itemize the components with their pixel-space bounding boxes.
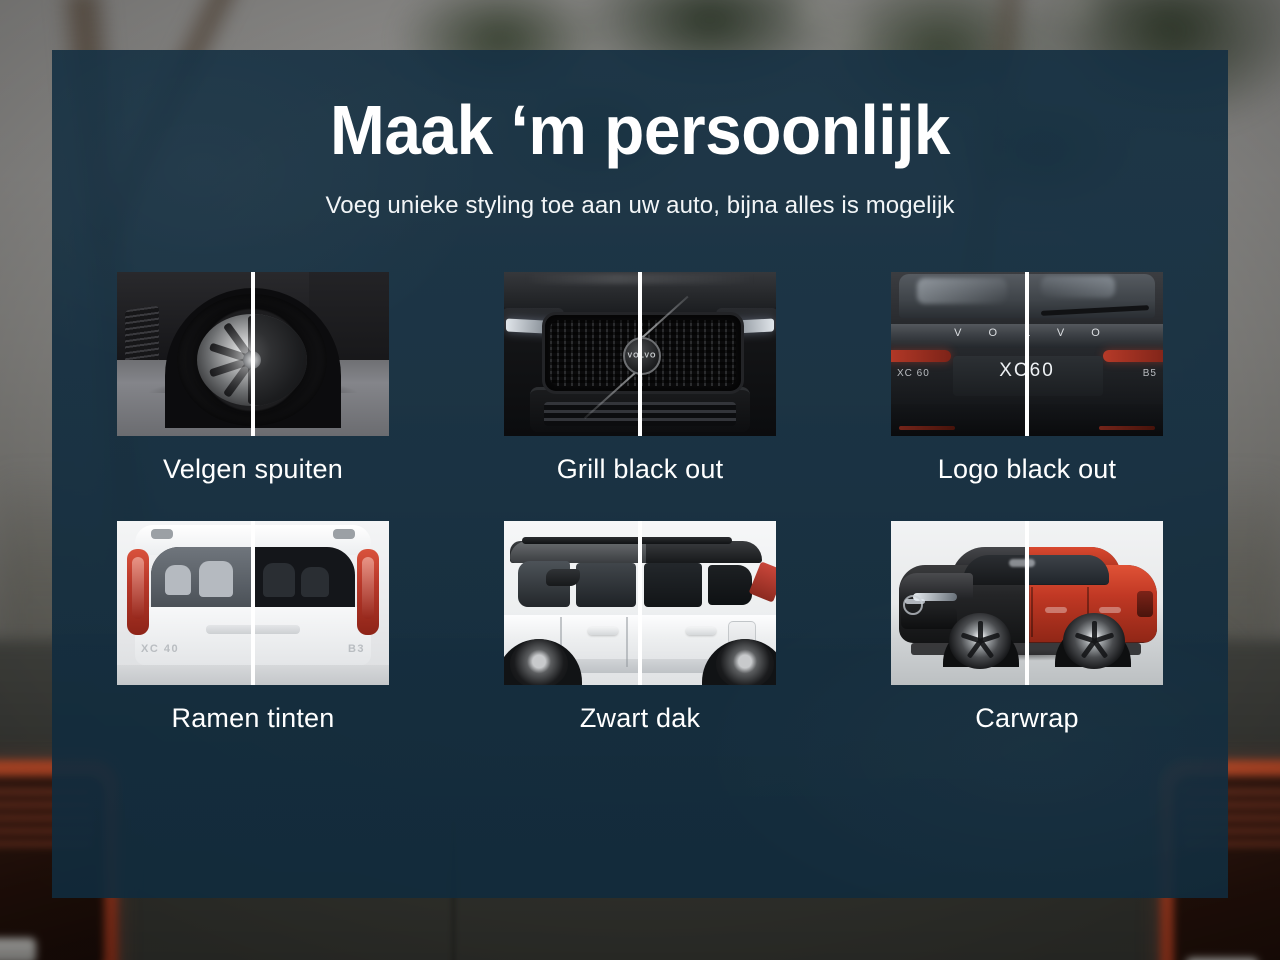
card-velgen-spuiten[interactable]: Velgen spuiten	[117, 272, 389, 485]
card-label-zwart-dak: Zwart dak	[504, 703, 776, 734]
thumbnail-velgen-spuiten[interactable]	[117, 272, 389, 436]
badge-left-text: XC 40	[141, 643, 179, 655]
badge-right-text: B5	[1143, 368, 1157, 379]
volvo-iron-mark-icon: VOLVO	[623, 337, 661, 375]
thumbnail-logo-black-out[interactable]: V O L V O XC60 XC 60 B5	[891, 272, 1163, 436]
card-label-velgen-spuiten: Velgen spuiten	[117, 454, 389, 485]
taillight-left-icon	[127, 549, 149, 635]
door-handle-icon	[1045, 607, 1067, 613]
before-after-divider	[251, 521, 255, 685]
taillight-icon	[1137, 591, 1153, 617]
card-label-logo-black-out: Logo black out	[891, 454, 1163, 485]
before-after-divider	[251, 272, 255, 436]
card-label-grill-black-out: Grill black out	[504, 454, 776, 485]
styling-options-grid: Velgen spuiten	[117, 220, 1163, 734]
thumbnail-ramen-tinten[interactable]: XC 40 B3	[117, 521, 389, 685]
wheel-icon	[949, 613, 1011, 669]
volvo-badge-text: VOLVO	[628, 352, 657, 359]
before-after-divider	[1025, 521, 1029, 685]
panel-header: Maak ‘m persoonlijk Voeg unieke styling …	[52, 50, 1228, 220]
screenshot-stage: Maak ‘m persoonlijk Voeg unieke styling …	[0, 0, 1280, 960]
before-after-divider	[1025, 272, 1029, 436]
before-after-divider	[638, 272, 642, 436]
before-after-divider	[638, 521, 642, 685]
badge-left-text: XC 60	[897, 368, 930, 379]
roof-rail-icon	[522, 537, 732, 544]
wheel-icon	[716, 639, 774, 685]
page-title: Maak ‘m persoonlijk	[87, 50, 1192, 168]
badge-right-text: B3	[348, 643, 365, 655]
taillight-right-icon	[357, 549, 379, 635]
card-ramen-tinten[interactable]: XC 40 B3 Ramen tinten	[117, 521, 389, 734]
content-panel: Maak ‘m persoonlijk Voeg unieke styling …	[52, 50, 1228, 898]
door-handle-icon	[1099, 607, 1121, 613]
fender-vent-icon	[125, 305, 159, 368]
card-grill-black-out[interactable]: VOLVO Grill black out	[504, 272, 776, 485]
door-handle-icon	[686, 627, 716, 635]
wheel-icon	[1063, 613, 1125, 669]
card-label-ramen-tinten: Ramen tinten	[117, 703, 389, 734]
wheel-icon	[510, 639, 568, 685]
side-mirror-icon	[546, 569, 580, 586]
card-label-carwrap: Carwrap	[891, 703, 1163, 734]
card-carwrap[interactable]: Carwrap	[891, 521, 1163, 734]
page-subtitle: Voeg unieke styling toe aan uw auto, bij…	[52, 168, 1228, 220]
card-zwart-dak[interactable]: Zwart dak	[504, 521, 776, 734]
volvo-iron-mark-icon	[903, 595, 923, 615]
thumbnail-grill-black-out[interactable]: VOLVO	[504, 272, 776, 436]
thumbnail-zwart-dak[interactable]	[504, 521, 776, 685]
thumbnail-carwrap[interactable]	[891, 521, 1163, 685]
card-logo-black-out[interactable]: V O L V O XC60 XC 60 B5 Logo black out	[891, 272, 1163, 485]
door-handle-icon	[588, 627, 618, 635]
